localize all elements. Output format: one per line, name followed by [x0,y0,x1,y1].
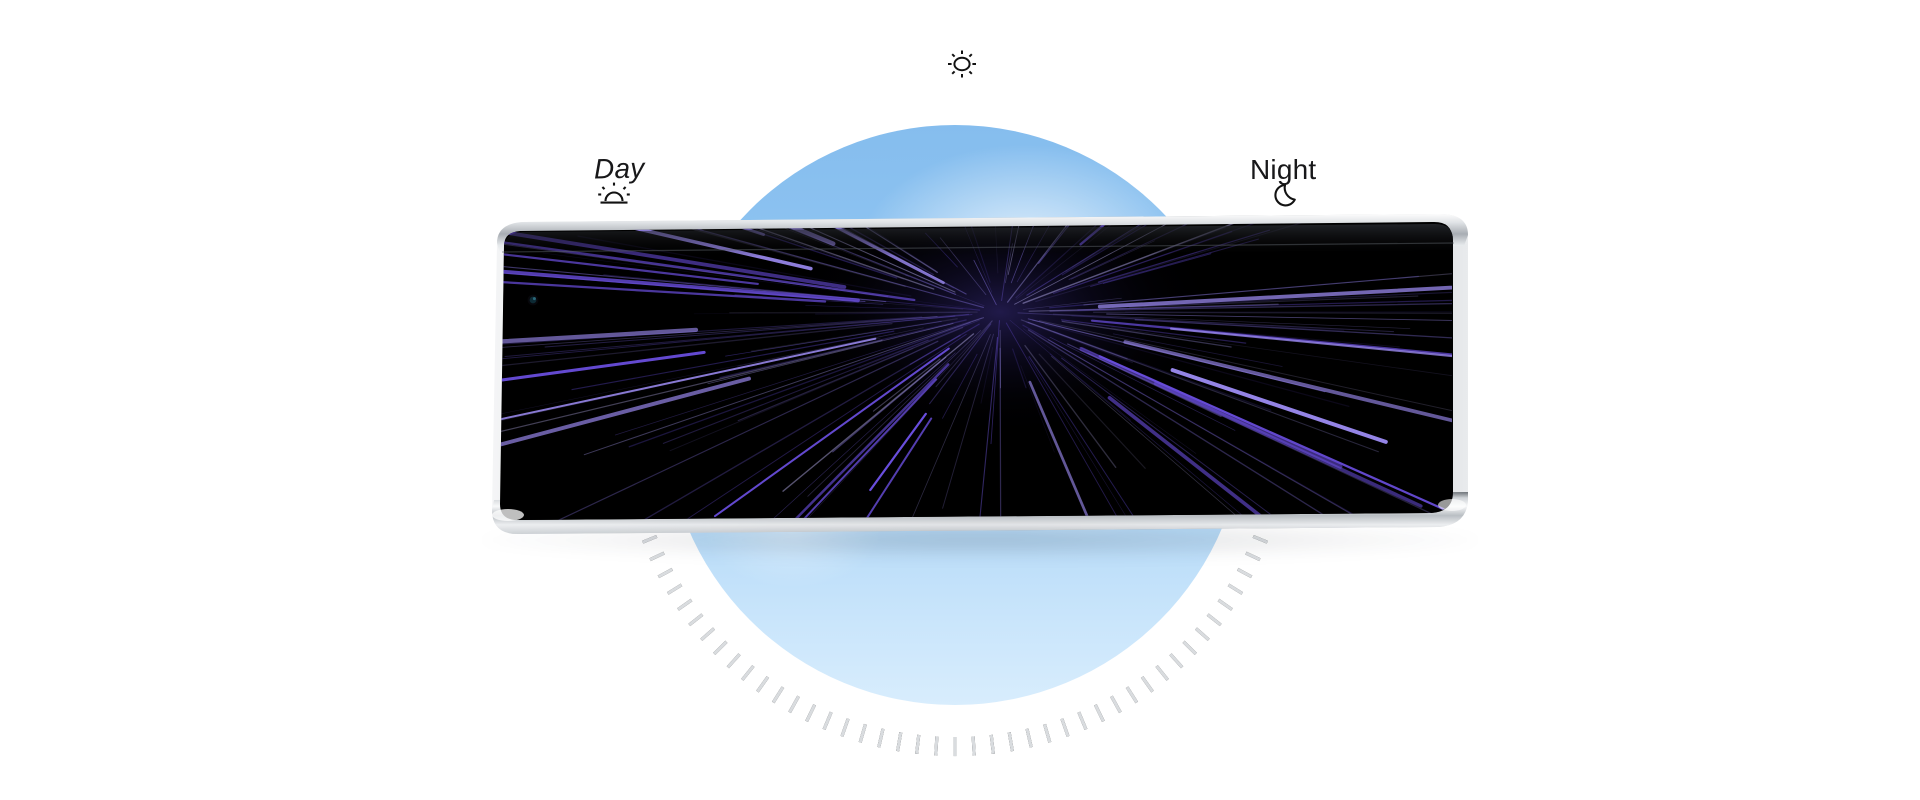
dial-tick [1095,705,1103,722]
dial-tick [917,735,919,754]
dial-tick [1009,732,1012,751]
frame-specular-left [492,509,524,521]
dial-tick [1009,732,1012,751]
dial-tick [1095,705,1103,722]
scene-root: Day Night [0,0,1920,800]
dial-tick [714,642,726,654]
dial-tick [1170,654,1182,667]
dial-tick [1229,585,1243,594]
dial-tick [650,553,664,560]
dial-tick [1275,449,1289,450]
dial-tick [658,569,672,577]
dial-tick [627,484,641,487]
dial-tick [1238,569,1252,577]
dial-tick [1260,519,1274,524]
dial-tick [728,654,740,667]
dial-tick [936,736,937,755]
dial-tick [860,724,865,742]
sunrise-icon [597,182,631,213]
dial-tick [742,666,753,680]
dial-tick [1238,569,1252,577]
dial-tick [1196,629,1209,640]
dial-tick [668,585,682,594]
dial-tick [991,735,993,754]
dial-tick [678,600,691,609]
dial-tick [1027,729,1031,747]
dial-tick [1246,553,1260,560]
dial-tick [1142,677,1152,692]
light-streak-bold [272,330,696,355]
dial-tick [1079,712,1086,729]
dial-tick [621,449,635,450]
dial-tick [860,724,865,742]
dial-tick [689,615,702,625]
dial-tick [973,736,974,755]
dial-tick [973,736,974,755]
dial-tick [1157,666,1168,680]
dial-tick [650,553,664,560]
dial-tick [1229,585,1243,594]
dial-tick [623,467,637,469]
dial-tick [1045,724,1050,742]
dial-tick [1111,696,1120,712]
dial-tick [1265,502,1279,506]
dial-tick [1273,467,1287,469]
dial-tick [824,712,831,729]
dial-tick [1027,729,1031,747]
dial-tick [1170,654,1182,667]
dial-tick [842,719,848,737]
dial-tick [627,484,641,487]
dial-tick [757,677,767,692]
dial-tick [668,585,682,594]
dial-tick [742,666,753,680]
dial-tick [1079,712,1086,729]
dial-tick [1253,536,1267,542]
dial-tick [678,600,691,609]
dial-tick [701,629,714,640]
dial-tick [898,732,901,751]
dial-tick [1219,600,1232,609]
dial-tick [1062,719,1068,737]
sun-icon [946,48,978,85]
dial-tick [773,687,783,702]
dial-tick [936,736,937,755]
dial-tick [1184,642,1196,654]
dial-tick [1273,467,1287,469]
dial-tick [1045,724,1050,742]
dial-tick [917,735,919,754]
dial-tick [636,519,650,524]
dial-tick [879,729,883,747]
dial-tick [701,629,714,640]
dial-tick [1208,615,1221,625]
dial-tick [1253,536,1267,542]
dial-tick [807,705,815,722]
dial-tick [807,705,815,722]
dial-tick [1111,696,1120,712]
dial-tick [1219,600,1232,609]
dial-tick [728,654,740,667]
frame-specular-right [1438,499,1466,511]
day-label: Day [594,153,645,186]
dial-tick [1265,502,1279,506]
dial-tick [631,502,645,506]
dial-tick [1246,553,1260,560]
light-streak-bold [179,379,749,530]
light-streak-bold [302,352,704,407]
dial-tick [991,735,993,754]
dial-tick [757,677,767,692]
dial-tick [636,519,650,524]
dial-tick [643,536,657,542]
dial-tick [1260,519,1274,524]
dial-tick [790,696,799,712]
dial-tick [1275,449,1289,450]
dial-tick [1127,687,1137,702]
dial-tick [898,732,901,751]
dial-tick [1196,629,1209,640]
dial-tick [623,467,637,469]
dial-tick [1269,484,1283,487]
dial-tick [1142,677,1152,692]
dial-tick [773,687,783,702]
front-camera-punch-hole [528,295,539,306]
dial-tick [1127,687,1137,702]
dial-tick [643,536,657,542]
dial-tick [1208,615,1221,625]
dial-tick [1269,484,1283,487]
dial-tick [842,719,848,737]
dial-tick [658,569,672,577]
dial-tick [824,712,831,729]
dial-tick [1184,642,1196,654]
sky-circle [665,125,1245,705]
dial-tick [621,449,635,450]
dial-tick [790,696,799,712]
dial-tick [689,615,702,625]
light-streak [1135,320,1825,360]
dial-tick [1062,719,1068,737]
dial-tick [631,502,645,506]
dial-tick [714,642,726,654]
dial-tick [1157,666,1168,680]
moon-icon [1272,180,1302,215]
dial-tick [879,729,883,747]
